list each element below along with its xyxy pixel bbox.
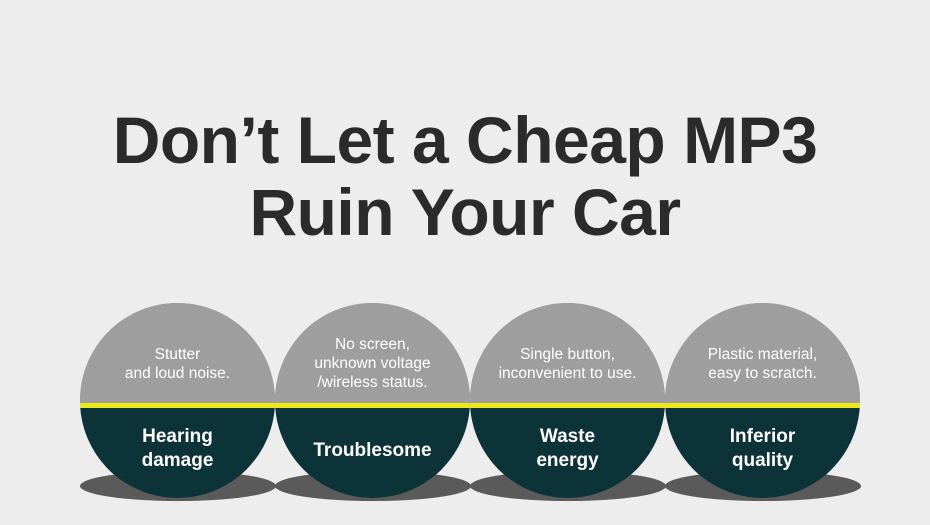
circle-label: Inferior quality [665, 425, 860, 473]
circle-caption: Stutter and loud noise. [80, 345, 275, 383]
circle-label: Hearing damage [80, 425, 275, 473]
circle-label: Troublesome [275, 439, 470, 463]
page-title-line-2: Ruin Your Car [0, 176, 930, 248]
circle-label: Waste energy [470, 425, 665, 473]
infographic-page: Don’t Let a Cheap MP3 Ruin Your Car Stut… [0, 0, 930, 525]
pain-point-circle-inferior-quality: Plastic material, easy to scratch. Infer… [665, 303, 860, 498]
circle-caption: No screen, unknown voltage /wireless sta… [275, 335, 470, 392]
pain-point-circle-troublesome: No screen, unknown voltage /wireless sta… [275, 303, 470, 498]
circle-layer: Stutter and loud noise. Hearing damage N… [80, 303, 860, 503]
pain-point-circle-waste-energy: Single button, inconvenient to use. Wast… [470, 303, 665, 498]
pain-point-circle-row: Stutter and loud noise. Hearing damage N… [80, 303, 860, 503]
page-title-line-1: Don’t Let a Cheap MP3 [0, 104, 930, 176]
circle-caption: Plastic material, easy to scratch. [665, 345, 860, 383]
pain-point-circle-hearing-damage: Stutter and loud noise. Hearing damage [80, 303, 275, 498]
circle-caption: Single button, inconvenient to use. [470, 345, 665, 383]
page-title: Don’t Let a Cheap MP3 Ruin Your Car [0, 104, 930, 248]
